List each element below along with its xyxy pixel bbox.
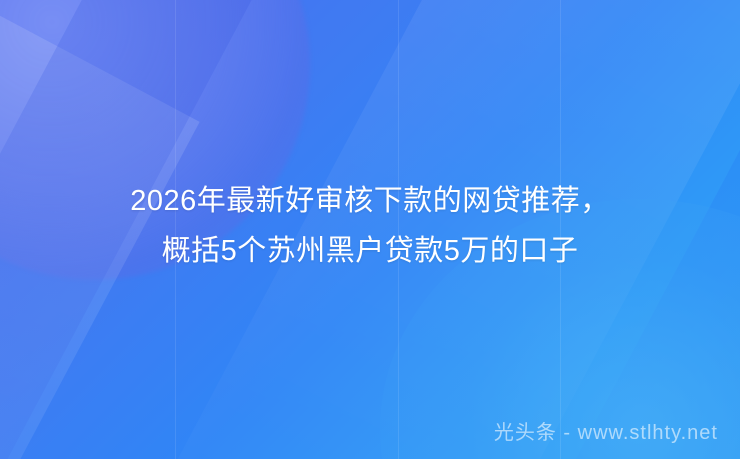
headline-line-1: 2026年最新好审核下款的网贷推荐，	[24, 176, 716, 226]
banner-headline: 2026年最新好审核下款的网贷推荐， 概括5个苏州黑户贷款5万的口子	[0, 176, 740, 276]
promo-banner: 2026年最新好审核下款的网贷推荐， 概括5个苏州黑户贷款5万的口子 光头条 -…	[0, 0, 740, 459]
site-watermark: 光头条 - www.stlhty.net	[494, 416, 718, 445]
headline-line-2: 概括5个苏州黑户贷款5万的口子	[24, 226, 716, 276]
